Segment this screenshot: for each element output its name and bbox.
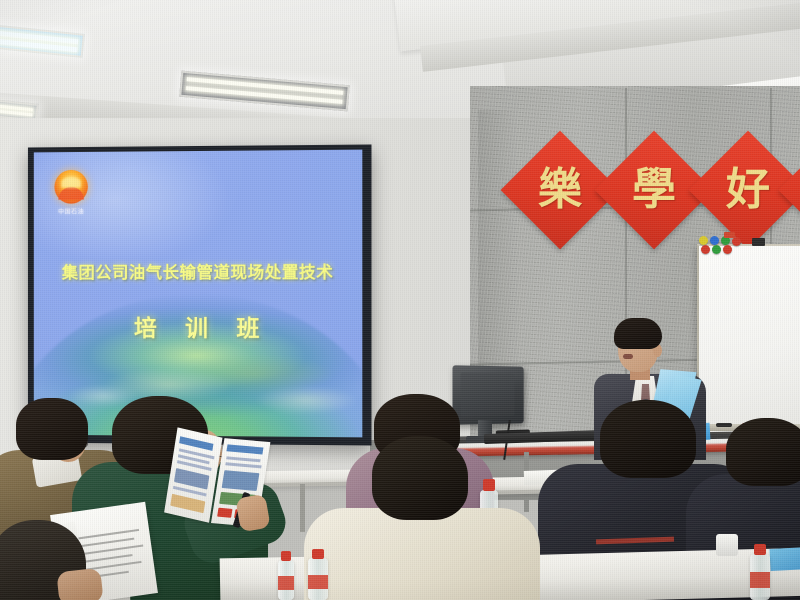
magnet-red-icon xyxy=(723,245,732,254)
calligraphy-glyph: 乐 xyxy=(794,152,800,228)
magnet-blue-icon xyxy=(710,236,719,245)
bottle-cap xyxy=(281,551,291,561)
calligraphy-glyph: 學 xyxy=(612,148,696,232)
cnpc-sunburst-icon xyxy=(54,170,87,204)
cnpc-logo-text: 中国石油 xyxy=(50,207,93,216)
photograph-scene: 樂 學 好 乐 中国石油 集团公司油气长输管道现场处置技术 培 训 班 一 种 … xyxy=(0,0,800,600)
water-bottle xyxy=(278,560,294,600)
magnet-yellow-icon xyxy=(699,236,708,245)
bottle-label xyxy=(308,575,328,589)
bottle-cap xyxy=(754,544,767,555)
attendee-clothing xyxy=(304,508,540,600)
projection-screen-surface: 中国石油 集团公司油气长输管道现场处置技术 培 训 班 xyxy=(34,150,363,438)
magnet-red-icon xyxy=(732,237,741,246)
attendee-hair xyxy=(372,436,468,520)
slide-title: 集团公司油气长输管道现场处置技术 xyxy=(34,259,363,283)
bottle-label xyxy=(750,572,770,588)
bottle-label xyxy=(278,576,294,590)
magnet-green-icon xyxy=(712,245,721,254)
attendee-hand xyxy=(235,494,270,533)
paper-cup xyxy=(716,534,738,556)
presenter-hair xyxy=(614,318,662,349)
training-desk-leg xyxy=(300,484,305,532)
whiteboard-clip xyxy=(752,238,765,246)
cnpc-logo: 中国石油 xyxy=(50,170,93,220)
attendee-hand xyxy=(56,568,103,600)
whiteboard-clip xyxy=(724,232,735,238)
water-bottle xyxy=(750,554,770,600)
magnet-red-icon xyxy=(701,245,710,254)
calligraphy-glyph: 樂 xyxy=(518,148,602,232)
attendee-cream-jacket xyxy=(328,436,538,600)
attendee-hair xyxy=(726,418,800,486)
attendee-hair xyxy=(600,400,696,478)
bottle-cap xyxy=(312,549,325,559)
presenter-mouth xyxy=(623,354,633,359)
slide-subtitle: 培 训 班 xyxy=(34,309,363,344)
blue-folder xyxy=(769,547,800,571)
whiteboard-magnets xyxy=(699,236,743,254)
water-bottle xyxy=(308,558,328,600)
